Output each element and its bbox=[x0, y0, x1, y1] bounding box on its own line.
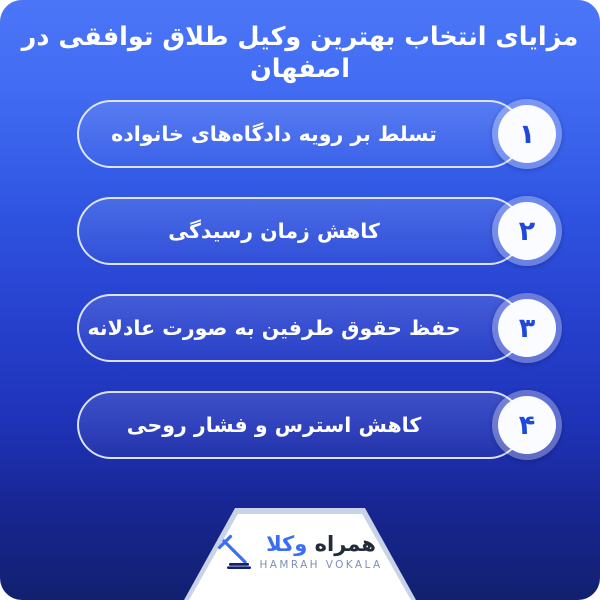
benefit-pill[interactable]: حفظ حقوق طرفین به صورت عادلانه bbox=[77, 294, 523, 362]
benefit-number: ۲ bbox=[519, 218, 535, 245]
benefit-label: حفظ حقوق طرفین به صورت عادلانه bbox=[88, 316, 461, 341]
benefit-number-badge: ۴ bbox=[492, 390, 562, 460]
benefit-number-badge: ۱ bbox=[492, 99, 562, 169]
list-item[interactable]: کاهش استرس و فشار روحی ۴ bbox=[0, 391, 600, 459]
benefit-number: ۳ bbox=[519, 315, 535, 342]
benefit-number-badge-inner: ۴ bbox=[498, 396, 556, 454]
benefit-number-badge-inner: ۳ bbox=[498, 299, 556, 357]
brand-name-fa-part1: همراه bbox=[315, 532, 376, 556]
brand-logo[interactable]: همراه وکلا HAMRAH VOKALA bbox=[184, 534, 416, 571]
benefit-pill[interactable]: کاهش استرس و فشار روحی bbox=[77, 391, 523, 459]
benefit-label: کاهش استرس و فشار روحی bbox=[127, 413, 422, 438]
brand-logo-text: همراه وکلا HAMRAH VOKALA bbox=[259, 534, 382, 571]
benefit-number-badge: ۲ bbox=[492, 196, 562, 266]
gavel-base bbox=[227, 567, 251, 570]
benefits-list: تسلط بر رویه دادگاه‌های خانواده ۱ کاهش ز… bbox=[0, 100, 600, 488]
brand-name-en: HAMRAH VOKALA bbox=[259, 560, 382, 571]
page-title: مزایای انتخاب بهترین وکیل طلاق توافقی در… bbox=[0, 22, 600, 86]
benefit-number-badge: ۳ bbox=[492, 293, 562, 363]
benefit-number: ۴ bbox=[519, 412, 535, 439]
gavel-icon bbox=[217, 534, 251, 570]
list-item[interactable]: تسلط بر رویه دادگاه‌های خانواده ۱ bbox=[0, 100, 600, 168]
benefit-number-badge-inner: ۲ bbox=[498, 202, 556, 260]
brand-name-fa-part2: وکلا bbox=[266, 532, 307, 556]
benefit-label: تسلط بر رویه دادگاه‌های خانواده bbox=[111, 122, 437, 147]
benefit-pill[interactable]: تسلط بر رویه دادگاه‌های خانواده bbox=[77, 100, 523, 168]
footer-logo-tab: همراه وکلا HAMRAH VOKALA bbox=[184, 508, 416, 600]
gavel-block bbox=[229, 563, 249, 566]
benefit-label: کاهش زمان رسیدگی bbox=[168, 219, 380, 244]
infographic-poster: مزایای انتخاب بهترین وکیل طلاق توافقی در… bbox=[0, 0, 600, 600]
list-item[interactable]: کاهش زمان رسیدگی ۲ bbox=[0, 197, 600, 265]
list-item[interactable]: حفظ حقوق طرفین به صورت عادلانه ۳ bbox=[0, 294, 600, 362]
benefit-number: ۱ bbox=[519, 121, 535, 148]
benefit-number-badge-inner: ۱ bbox=[498, 105, 556, 163]
brand-name-fa: همراه وکلا bbox=[266, 534, 376, 555]
benefit-pill[interactable]: کاهش زمان رسیدگی bbox=[77, 197, 523, 265]
